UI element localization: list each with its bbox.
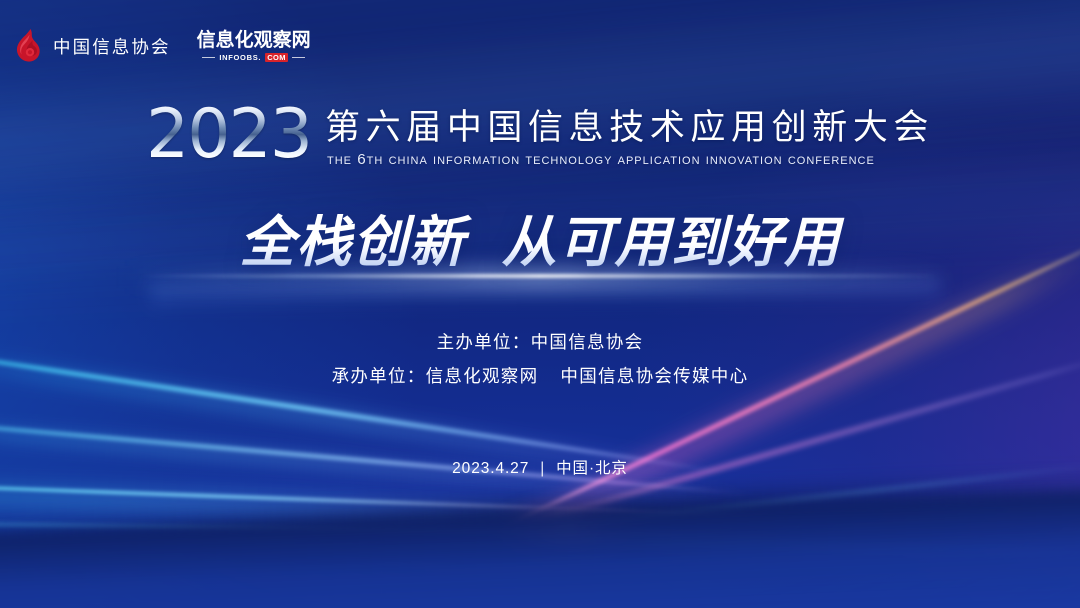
slogan-part-1: 全栈创新 (239, 211, 465, 273)
media-logo-en-label: INFOOBS. (219, 53, 261, 62)
event-date: 2023.4.27 (452, 460, 529, 477)
coorganizer-1: 信息化观察网 (426, 366, 539, 386)
event-info-separator: | (540, 460, 545, 478)
media-logo-rule-left (202, 57, 215, 58)
coorganizer-line: 承办单位：信息化观察网中国信息协会传媒中心 (0, 368, 1080, 386)
title-inner: 2023 第六届中国信息技术应用创新大会 The 6th China Infor… (146, 104, 934, 168)
media-logo-en-row: INFOOBS. COM (202, 53, 305, 62)
event-location: 中国·北京 (556, 460, 628, 477)
conference-slogan: 全栈创新从可用到好用 (0, 212, 1080, 274)
conference-poster: 中国信息协会 信息化观察网 INFOOBS. COM 2023 第六届中国信息技… (0, 0, 1080, 608)
poster-content: 中国信息协会 信息化观察网 INFOOBS. COM 2023 第六届中国信息技… (0, 0, 1080, 608)
organizer-info: 主办单位：中国信息协会 承办单位：信息化观察网中国信息协会传媒中心 (0, 334, 1080, 385)
coorganizer-label: 承办单位： (332, 366, 426, 386)
media-logo[interactable]: 信息化观察网 INFOOBS. COM (197, 31, 311, 62)
media-logo-rule-right (292, 57, 305, 58)
title-text-group: 第六届中国信息技术应用创新大会 The 6th China Informatio… (325, 104, 934, 168)
conference-title-en: The 6th China Information Technology App… (327, 151, 934, 168)
media-logo-cn-label: 信息化观察网 (197, 31, 311, 50)
media-logo-com-badge: COM (265, 53, 288, 62)
coorganizer-2: 中国信息协会传媒中心 (560, 366, 748, 386)
slogan-part-2: 从可用到好用 (502, 211, 841, 273)
title-block: 2023 第六届中国信息技术应用创新大会 The 6th China Infor… (0, 104, 1080, 168)
flame-logo-icon (14, 28, 44, 64)
conference-title-cn: 第六届中国信息技术应用创新大会 (325, 109, 934, 146)
header-logo-bar: 中国信息协会 信息化观察网 INFOOBS. COM (14, 28, 311, 64)
conference-year: 2023 (146, 102, 311, 167)
association-logo[interactable]: 中国信息协会 (14, 28, 171, 64)
event-date-location: 2023.4.27|中国·北京 (0, 456, 1080, 478)
host-organizer-line: 主办单位：中国信息协会 (0, 334, 1080, 352)
association-logo-label: 中国信息协会 (53, 34, 171, 59)
